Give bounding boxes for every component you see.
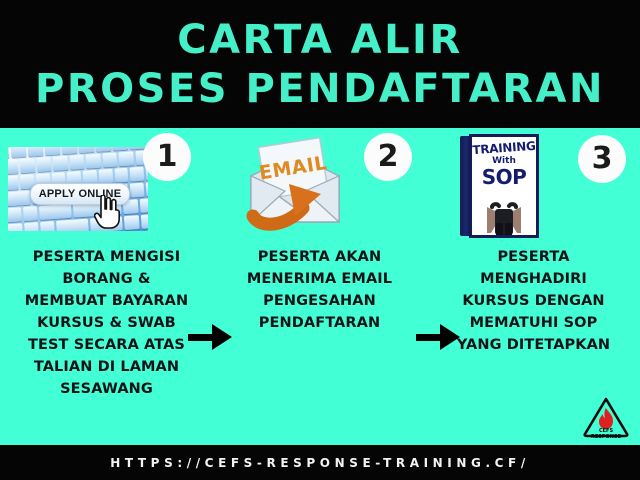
caption-line: MEMBUAT BAYARAN xyxy=(0,290,213,312)
book-cover-title: TRAINING With SOP xyxy=(472,142,536,187)
right-arrow-icon xyxy=(416,324,460,350)
cefs-response-logo: CEFS RESPONSE xyxy=(582,396,630,444)
book-cover-figure-icon xyxy=(483,193,525,235)
caption-line: KURSUS DENGAN xyxy=(427,290,640,312)
caption-line: PENDAFTARAN xyxy=(213,312,426,334)
training-book-image: TRAINING With SOP xyxy=(460,134,542,238)
step-1-number: 1 xyxy=(157,142,178,172)
right-arrow-icon xyxy=(188,324,232,350)
logo-text-line-2: RESPONSE xyxy=(591,434,622,440)
step-2-caption: PESERTA AKAN MENERIMA EMAIL PENGESAHAN P… xyxy=(213,246,426,334)
page-title-line-1: CARTA ALIR xyxy=(177,20,463,60)
header-band: CARTA ALIR PROSES PENDAFTARAN xyxy=(0,0,640,128)
keyboard-image: APPLY ONLINE xyxy=(8,147,148,231)
caption-line: PESERTA AKAN xyxy=(213,246,426,268)
infographic-poster: CARTA ALIR PROSES PENDAFTARAN xyxy=(0,0,640,480)
email-envelope-icon: EMAIL xyxy=(237,136,353,236)
page-title-line-2: PROSES PENDAFTARAN xyxy=(35,69,605,109)
hand-pointer-icon xyxy=(94,195,120,229)
step-1-number-badge: 1 xyxy=(143,133,191,181)
caption-line: SESAWANG xyxy=(0,378,213,400)
caption-line: TALIAN DI LAMAN xyxy=(0,356,213,378)
step-2-number-badge: 2 xyxy=(364,133,412,181)
step-2-art: EMAIL 2 xyxy=(213,128,426,240)
steps-container: APPLY ONLINE 1 PESERTA MENGISI BORANG & … xyxy=(0,128,640,445)
caption-line: BORANG & xyxy=(0,268,213,290)
step-1-caption: PESERTA MENGISI BORANG & MEMBUAT BAYARAN… xyxy=(0,246,213,400)
caption-line: MENERIMA EMAIL xyxy=(213,268,426,290)
footer-band: HTTPS://CEFS-RESPONSE-TRAINING.CF/ xyxy=(0,445,640,480)
step-1: APPLY ONLINE 1 PESERTA MENGISI BORANG & … xyxy=(0,128,213,445)
book-cover: TRAINING With SOP xyxy=(469,134,539,238)
caption-line: MENGHADIRI xyxy=(427,268,640,290)
book-title-line-3: SOP xyxy=(472,167,536,187)
step-3-art: TRAINING With SOP xyxy=(427,128,640,240)
caption-line: KURSUS & SWAB xyxy=(0,312,213,334)
step-2-number: 2 xyxy=(378,142,399,172)
step-2: EMAIL 2 PESERTA AKAN xyxy=(213,128,426,445)
step-3-number: 3 xyxy=(592,144,613,174)
caption-line: PESERTA xyxy=(427,246,640,268)
caption-line: PESERTA MENGISI xyxy=(0,246,213,268)
step-3-number-badge: 3 xyxy=(578,135,626,183)
step-1-art: APPLY ONLINE 1 xyxy=(0,128,213,240)
caption-line: PENGESAHAN xyxy=(213,290,426,312)
website-url[interactable]: HTTPS://CEFS-RESPONSE-TRAINING.CF/ xyxy=(110,456,530,470)
book-title-line-1: TRAINING xyxy=(472,140,537,156)
caption-line: TEST SECARA ATAS xyxy=(0,334,213,356)
